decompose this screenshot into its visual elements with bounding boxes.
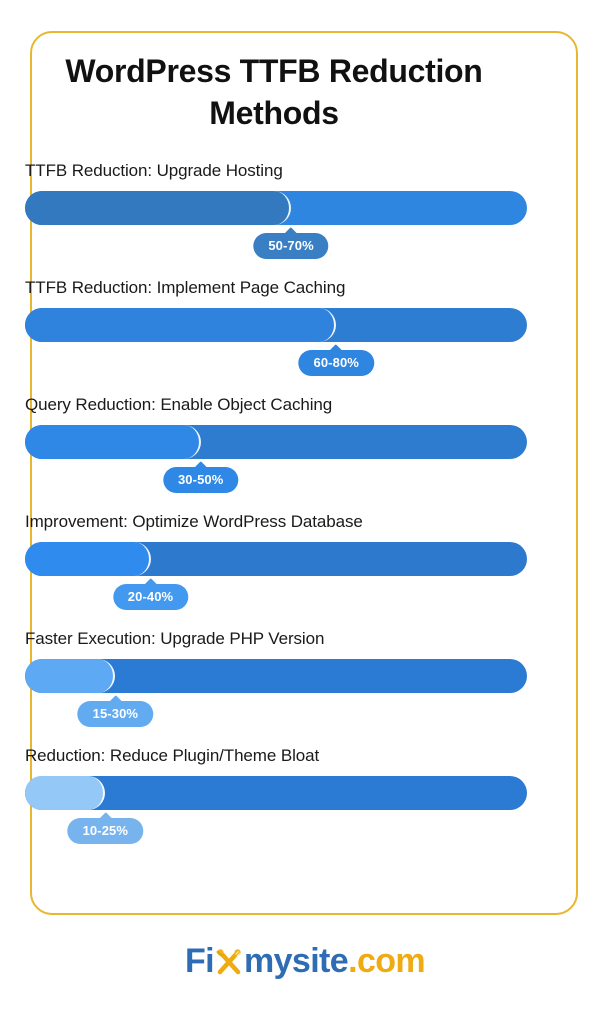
bar-block: Faster Execution: Upgrade PHP Version15-… [0, 629, 548, 746]
crossed-tools-x-icon [214, 947, 244, 977]
logo-text-fi: Fi [185, 942, 214, 980]
bar-block: TTFB Reduction: Upgrade Hosting50-70% [0, 161, 548, 278]
bar-fill [25, 659, 115, 693]
bar-value-badge: 10-25% [68, 818, 143, 844]
bar-fill [25, 425, 201, 459]
bar-value-text: 10-25% [83, 823, 128, 838]
bar-value-badge: 15-30% [78, 701, 153, 727]
bar-track[interactable] [25, 308, 527, 342]
bars-list: TTFB Reduction: Upgrade Hosting50-70%TTF… [0, 161, 548, 863]
bar-label: Query Reduction: Enable Object Caching [25, 395, 332, 415]
bar-badge-wrap: 20-40% [113, 584, 188, 610]
bar-value-text: 30-50% [178, 472, 223, 487]
bar-fill [25, 776, 105, 810]
page-title: WordPress TTFB Reduction Methods [40, 50, 508, 134]
bar-track[interactable] [25, 425, 527, 459]
bar-value-badge: 20-40% [113, 584, 188, 610]
bar-label: Reduction: Reduce Plugin/Theme Bloat [25, 746, 319, 766]
bar-value-text: 20-40% [128, 589, 173, 604]
bar-badge-wrap: 60-80% [299, 350, 374, 376]
bar-fill [25, 308, 336, 342]
bar-block: Query Reduction: Enable Object Caching30… [0, 395, 548, 512]
bar-value-text: 60-80% [314, 355, 359, 370]
bar-block: Improvement: Optimize WordPress Database… [0, 512, 548, 629]
bar-block: TTFB Reduction: Implement Page Caching60… [0, 278, 548, 395]
bar-label: TTFB Reduction: Upgrade Hosting [25, 161, 283, 181]
bar-track[interactable] [25, 191, 527, 225]
bar-value-badge: 50-70% [253, 233, 328, 259]
bar-badge-wrap: 10-25% [68, 818, 143, 844]
bar-fill [25, 191, 291, 225]
bar-label: TTFB Reduction: Implement Page Caching [25, 278, 345, 298]
brand-logo: Fi mysite.com [0, 944, 610, 978]
bar-value-badge: 60-80% [299, 350, 374, 376]
bar-badge-wrap: 15-30% [78, 701, 153, 727]
logo-text-com: .com [348, 942, 425, 980]
bar-value-text: 15-30% [93, 706, 138, 721]
bar-track[interactable] [25, 776, 527, 810]
bar-label: Faster Execution: Upgrade PHP Version [25, 629, 324, 649]
bar-value-badge: 30-50% [163, 467, 238, 493]
bar-value-text: 50-70% [268, 238, 313, 253]
bar-badge-wrap: 30-50% [163, 467, 238, 493]
bar-fill [25, 542, 151, 576]
bar-block: Reduction: Reduce Plugin/Theme Bloat10-2… [0, 746, 548, 863]
logo-text-mysite: mysite [244, 942, 348, 980]
bar-track[interactable] [25, 659, 527, 693]
bar-badge-wrap: 50-70% [253, 233, 328, 259]
bar-track[interactable] [25, 542, 527, 576]
bar-label: Improvement: Optimize WordPress Database [25, 512, 363, 532]
